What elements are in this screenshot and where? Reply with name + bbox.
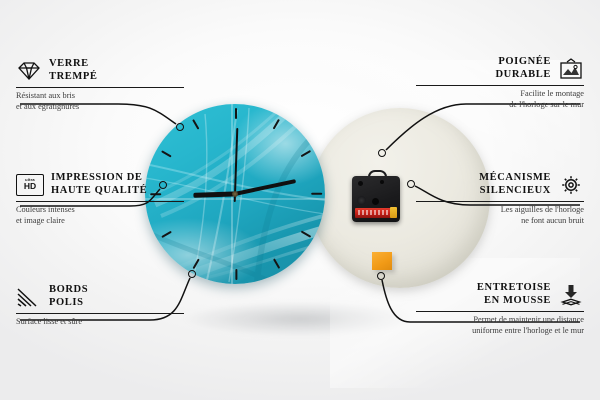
battery-positive-terminal [390,207,397,218]
clock-tick [192,119,200,130]
product-floor-shadow [150,296,450,342]
feature-entretoise-en-mousse: ENTRETOISE EN MOUSSE Permet de maintenir… [416,282,584,336]
ultra-hd-icon: ultra HD [16,174,44,196]
mechanism-detail-dot [372,198,379,205]
feature-bords-polis: BORDS POLIS Surface lisse et sûre [16,284,184,328]
minute-hand [235,179,297,196]
feature-verre-trempe: VERRE TREMPÉ Résistant aux bris et aux é… [16,58,184,112]
marker-mecanisme [407,180,415,188]
feature-title: VERRE TREMPÉ [49,58,98,83]
mechanism-detail-dot [380,180,384,184]
clock-tick [301,150,312,158]
hand-center-pin [232,191,238,197]
divider [16,87,184,88]
clock-tick [235,269,237,280]
clock-tick [273,258,281,269]
feature-title: POIGNÉE DURABLE [495,56,551,81]
feature-description: Couleurs intenses et image claire [16,205,184,226]
clock-tick [161,150,172,158]
foam-spacer-arrow-icon [558,284,584,306]
feature-description: Facilite le montage de l'horloge sur le … [416,89,584,110]
feature-poignee-durable: POIGNÉE DURABLE Facilite le montage de l… [416,56,584,110]
feature-title: IMPRESSION DE HAUTE QUALITÉ [51,172,147,197]
clock-tick [161,230,172,238]
foam-spacer [372,252,392,270]
feature-description: Surface lisse et sûre [16,317,184,328]
feature-title: BORDS POLIS [49,284,88,309]
feature-header: MÉCANISME SILENCIEUX [416,172,584,197]
clock-tick [311,193,322,195]
mechanism-shaft [357,196,366,205]
marker-verre [176,123,184,131]
feature-impression-haute-qualite: ultra HD IMPRESSION DE HAUTE QUALITÉ Cou… [16,172,184,226]
clock-tick [273,119,281,130]
clock-tick [301,230,312,238]
marker-bords [188,270,196,278]
feature-description: Résistant aux bris et aux égratignures [16,91,184,112]
gear-icon [558,174,584,196]
marker-entretoise [377,272,385,280]
marker-poignee [378,149,386,157]
feature-header: POIGNÉE DURABLE [416,56,584,81]
divider [416,201,584,202]
divider [16,313,184,314]
clock-tick [235,108,237,119]
divider [16,201,184,202]
feature-header: BORDS POLIS [16,284,184,309]
feature-header: ENTRETOISE EN MOUSSE [416,282,584,307]
feature-description: Permet de maintenir une distance uniform… [416,315,584,336]
feature-mecanisme-silencieux: MÉCANISME SILENCIEUX Les aiguilles de l'… [416,172,584,226]
diamond-icon [16,60,42,82]
feature-title: ENTRETOISE EN MOUSSE [477,282,551,307]
feature-title: MÉCANISME SILENCIEUX [479,172,551,197]
divider [416,85,584,86]
infographic-canvas: VERRE TREMPÉ Résistant aux bris et aux é… [0,0,600,400]
feature-header: ultra HD IMPRESSION DE HAUTE QUALITÉ [16,172,184,197]
divider [416,311,584,312]
polished-edge-icon [16,286,42,308]
mechanism-detail-dot [358,181,363,186]
feature-header: VERRE TREMPÉ [16,58,184,83]
battery-label [358,210,388,215]
wall-hanger-frame-icon [558,58,584,80]
clock-tick [192,258,200,269]
feature-description: Les aiguilles de l'horloge ne font aucun… [416,205,584,226]
